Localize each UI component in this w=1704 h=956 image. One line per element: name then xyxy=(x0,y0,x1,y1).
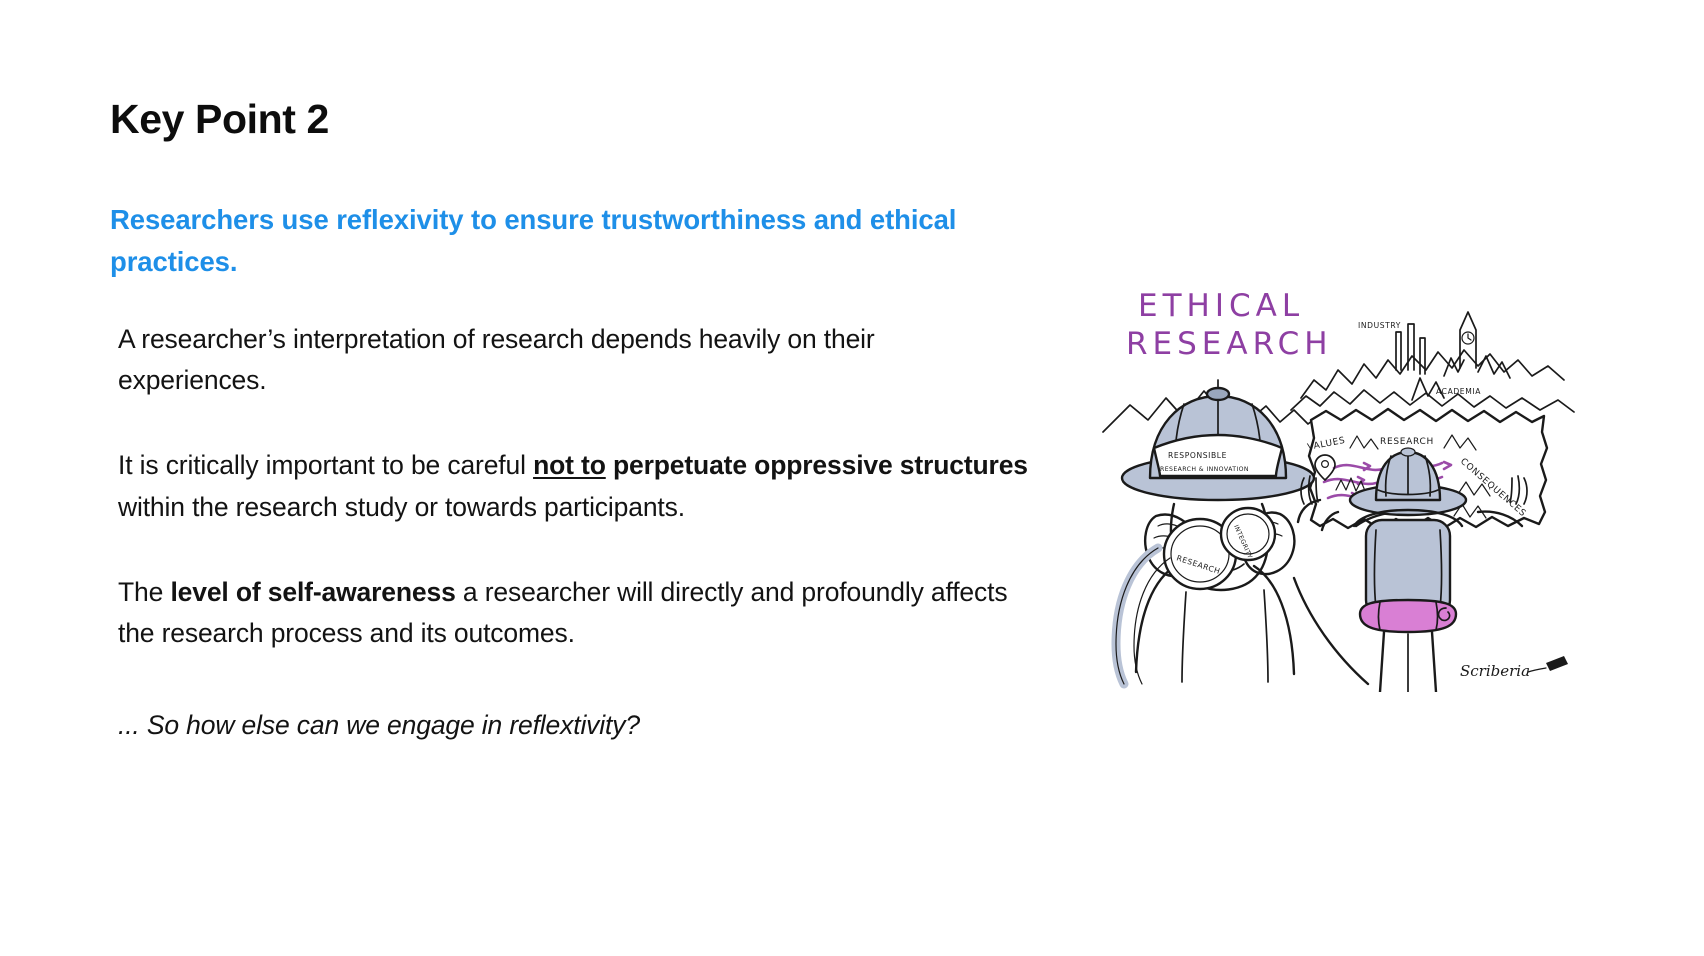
ethical-research-illustration: .ink { fill:none; stroke:#1a1a1a; stroke… xyxy=(1008,272,1578,692)
page-title: Key Point 2 xyxy=(110,96,1040,143)
p3-run-1-bold: level of self-awareness xyxy=(170,577,455,607)
explorer-with-binoculars: RESPONSIBLE RESEARCH & INNOVATION RESEAR… xyxy=(1116,380,1314,684)
p2-run-1-emphasis: not to xyxy=(533,450,606,480)
p2-run-3: within the research study or towards par… xyxy=(118,492,685,522)
p2-run-2-bold: perpetuate oppressive structures xyxy=(606,450,1028,480)
industry-academia-range: INDUSTRY ACADEMIA xyxy=(1291,312,1574,412)
paragraph-1: A researcher’s interpretation of researc… xyxy=(118,319,1030,402)
slide-canvas: Key Point 2 Researchers use reflexivity … xyxy=(0,0,1704,956)
map-label-research: RESEARCH xyxy=(1380,437,1434,447)
paragraph-1-text: A researcher’s interpretation of researc… xyxy=(118,324,875,395)
illustration-heading-line2: RESEARCH xyxy=(1126,326,1333,362)
label-academia: ACADEMIA xyxy=(1436,387,1481,396)
bedroll xyxy=(1360,600,1456,632)
signature-text: Scriberia xyxy=(1460,662,1530,680)
illustration-heading-line1: ETHICAL xyxy=(1138,288,1304,324)
paragraph-2: It is critically important to be careful… xyxy=(118,445,1030,528)
body-content: A researcher’s interpretation of researc… xyxy=(118,319,1030,746)
helmet-band-line2: RESEARCH & INNOVATION xyxy=(1160,466,1249,473)
p2-run-0: It is critically important to be careful xyxy=(118,450,533,480)
text-column: Key Point 2 Researchers use reflexivity … xyxy=(110,96,1040,746)
signature-scriberia: Scriberia xyxy=(1460,656,1568,680)
illustration-svg: .ink { fill:none; stroke:#1a1a1a; stroke… xyxy=(1008,272,1578,692)
paragraph-3: The level of self-awareness a researcher… xyxy=(118,572,1030,655)
paragraph-4-closing-question: ... So how else can we engage in reflext… xyxy=(118,705,1030,746)
p3-run-0: The xyxy=(118,577,170,607)
slide-subtitle: Researchers use reflexivity to ensure tr… xyxy=(110,199,1015,283)
label-industry: INDUSTRY xyxy=(1358,321,1401,330)
helmet-band-line1: RESPONSIBLE xyxy=(1168,451,1227,460)
